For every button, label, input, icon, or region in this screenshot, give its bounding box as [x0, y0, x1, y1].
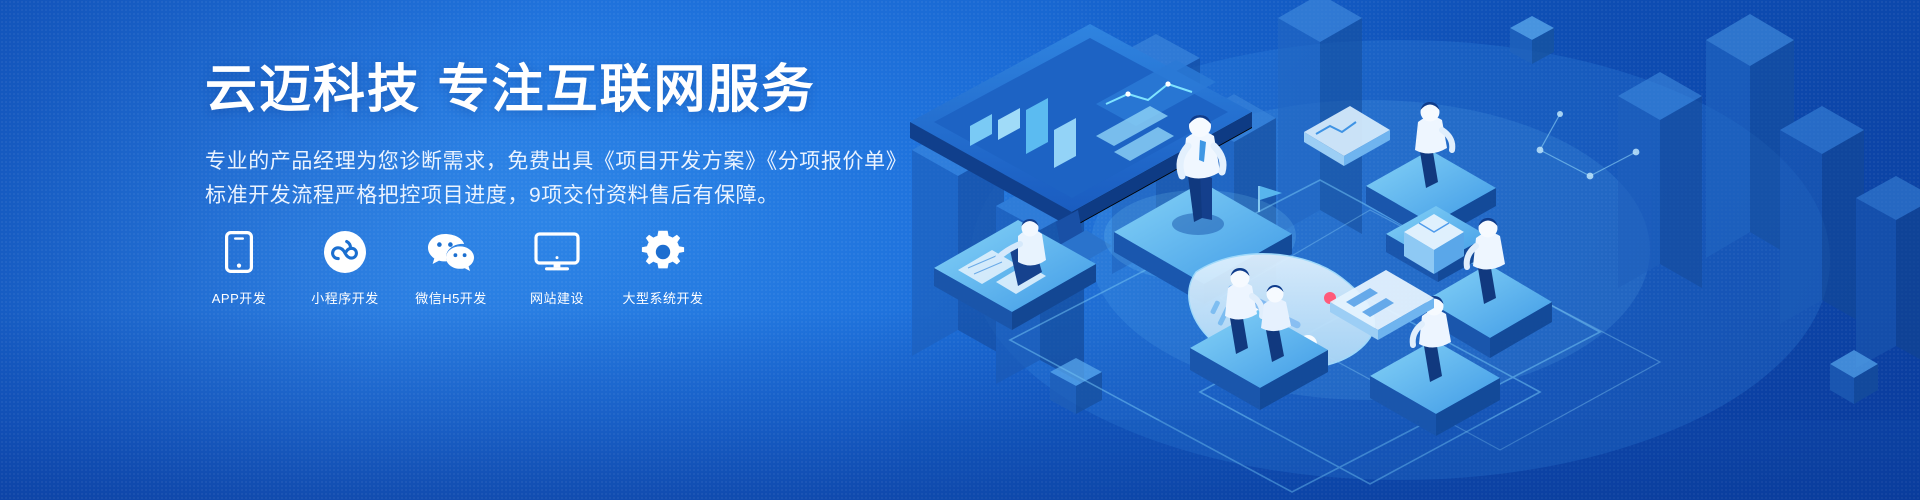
service-item-website[interactable]: 网站建设	[522, 228, 592, 307]
service-label: APP开发	[212, 288, 267, 307]
page-title: 云迈科技 专注互联网服务	[205, 62, 925, 119]
hero-banner: 云迈科技 专注互联网服务 专业的产品经理为您诊断需求，免费出具《项目开发方案》《…	[0, 0, 1920, 500]
wechat-icon	[427, 228, 475, 276]
service-item-large-system[interactable]: 大型系统开发	[628, 228, 698, 307]
service-item-app[interactable]: APP开发	[204, 228, 274, 307]
service-item-wechat-h5[interactable]: 微信H5开发	[416, 228, 486, 307]
subtitle-line-2: 标准开发流程严格把控项目进度，9项交付资料售后有保障。	[205, 179, 925, 213]
hero-subtitle: 专业的产品经理为您诊断需求，免费出具《项目开发方案》《分项报价单》 标准开发流程…	[205, 145, 925, 213]
service-label: 小程序开发	[311, 288, 379, 307]
service-list: APP开发 小程序开发	[204, 228, 698, 307]
mini-program-icon	[323, 228, 367, 276]
service-label: 网站建设	[530, 288, 584, 307]
service-label: 大型系统开发	[623, 288, 704, 307]
hero-illustration	[900, 0, 1920, 500]
subtitle-line-1: 专业的产品经理为您诊断需求，免费出具《项目开发方案》《分项报价单》	[205, 145, 925, 179]
mobile-phone-icon	[225, 228, 253, 276]
gear-icon	[641, 228, 685, 276]
service-label: 微信H5开发	[415, 288, 487, 307]
monitor-icon	[534, 228, 580, 276]
service-item-mini-program[interactable]: 小程序开发	[310, 228, 380, 307]
hero-text-block: 云迈科技 专注互联网服务 专业的产品经理为您诊断需求，免费出具《项目开发方案》《…	[205, 62, 925, 213]
